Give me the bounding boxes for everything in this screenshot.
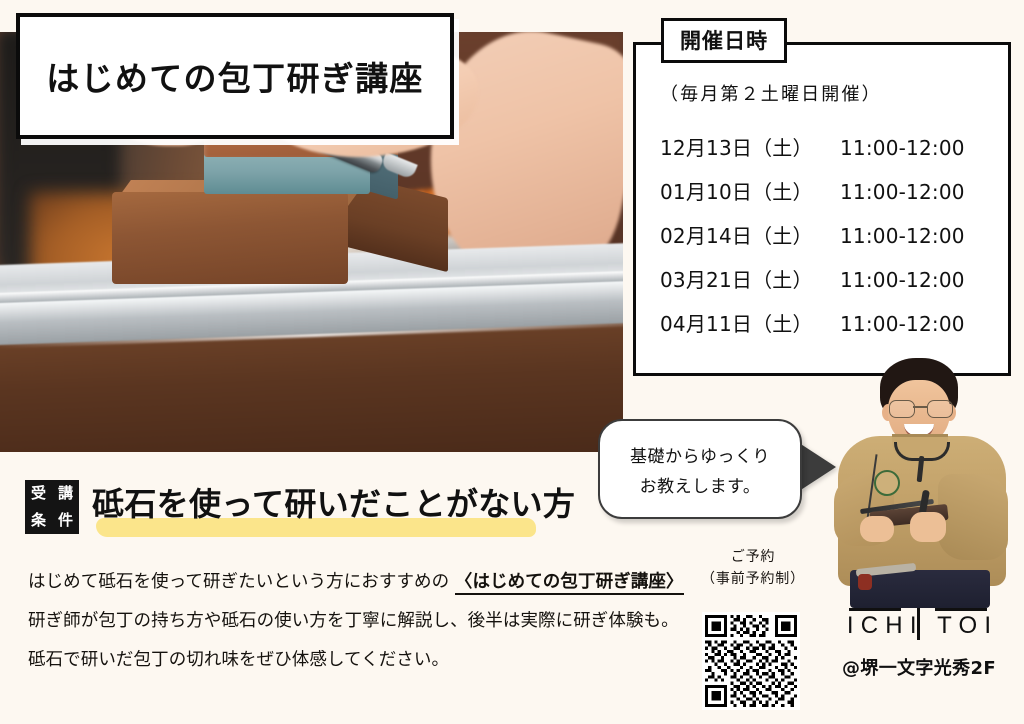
body-line-1: はじめて砥石を使って研ぎたいという方におすすめの 〈はじめての包丁研ぎ講座〉 <box>28 563 668 602</box>
qr-code-icon <box>705 615 797 707</box>
glasses-lens-left <box>889 400 915 418</box>
reservation-qr-code[interactable] <box>702 612 800 710</box>
condition-badge-char: 講 <box>58 486 73 501</box>
instructor-logo-badge <box>874 470 900 496</box>
speech-bubble-line-2: お教えします。 <box>640 472 761 497</box>
schedule-time: 11:00-12:00 <box>840 180 965 204</box>
logo-bar-right-icon <box>935 608 987 611</box>
schedule-time: 11:00-12:00 <box>840 224 965 248</box>
instructor-arm-right <box>938 474 1008 560</box>
body-line-3: 砥石で研いだ包丁の切れ味をぜひ体感してください。 <box>28 641 668 680</box>
logo-address: @堺一文字光秀2F <box>824 654 1014 680</box>
glasses-lens-right <box>927 400 953 418</box>
instructor-apron-knot <box>858 574 872 590</box>
instructor-photo-cutout <box>832 358 1012 608</box>
schedule-row: 12月13日（土） 11:00-12:00 <box>660 132 990 176</box>
schedule-date: 04月11日（土） <box>660 308 840 337</box>
body-copy: はじめて砥石を使って研ぎたいという方におすすめの 〈はじめての包丁研ぎ講座〉 研… <box>28 563 668 680</box>
schedule-date: 01月10日（土） <box>660 176 840 205</box>
glasses-bridge <box>913 406 927 408</box>
schedule-date: 03月21日（土） <box>660 264 840 293</box>
condition-badge-char: 件 <box>58 513 73 528</box>
schedule-date: 02月14日（土） <box>660 220 840 249</box>
page-title: はじめての包丁研ぎ講座 <box>46 52 424 100</box>
schedule-row: 04月11日（土） 11:00-12:00 <box>660 308 990 352</box>
photo-lower-whetstone <box>112 192 348 284</box>
schedule-subtitle: （毎月第２土曜日開催） <box>660 80 882 106</box>
condition-badge: 受 講 条 件 <box>25 480 79 534</box>
body-line-2: 研ぎ師が包丁の持ち方や砥石の使い方を丁寧に解説し、後半は実際に研ぎ体験も。 <box>28 602 668 641</box>
course-name-emphasis: 〈はじめての包丁研ぎ講座〉 <box>455 572 684 595</box>
logo-wordmark: ICHI TOI <box>831 612 1007 640</box>
schedule-row: 01月10日（土） 11:00-12:00 <box>660 176 990 220</box>
schedule-row: 03月21日（土） 11:00-12:00 <box>660 264 990 308</box>
instructor-hand-left <box>860 516 894 542</box>
schedule-date: 12月13日（土） <box>660 132 840 161</box>
logo-bar-left-icon <box>849 608 901 611</box>
schedule-time: 11:00-12:00 <box>840 312 965 336</box>
schedule-list: 12月13日（土） 11:00-12:00 01月10日（土） 11:00-12… <box>660 132 990 352</box>
condition-badge-char: 受 <box>31 486 46 501</box>
poster-title-box: はじめての包丁研ぎ講座 <box>16 13 454 139</box>
condition-badge-char: 条 <box>31 513 46 528</box>
speech-bubble-line-1: 基礎からゆっくり <box>630 442 770 467</box>
brand-logo: ICHI TOI @堺一文字光秀2F <box>824 598 1014 680</box>
schedule-row: 02月14日（土） 11:00-12:00 <box>660 220 990 264</box>
body-line-1-text: はじめて砥石を使って研ぎたいという方におすすめの <box>28 572 455 592</box>
schedule-time: 11:00-12:00 <box>840 268 965 292</box>
reservation-note: （事前予約制） <box>678 568 828 590</box>
speech-bubble: 基礎からゆっくり お教えします。 <box>598 419 802 519</box>
instructor-hand-right <box>910 512 946 542</box>
condition-headline: 砥石を使って研いだことがない方 <box>92 479 575 525</box>
reservation-label: ご予約 <box>678 546 828 568</box>
glasses-icon <box>888 400 952 416</box>
poster-canvas: はじめての包丁研ぎ講座 開催日時 （毎月第２土曜日開催） 12月13日（土） 1… <box>0 0 1024 724</box>
schedule-time: 11:00-12:00 <box>840 136 965 160</box>
schedule-heading: 開催日時 <box>661 18 787 63</box>
reservation-block: ご予約 （事前予約制） <box>678 546 828 590</box>
